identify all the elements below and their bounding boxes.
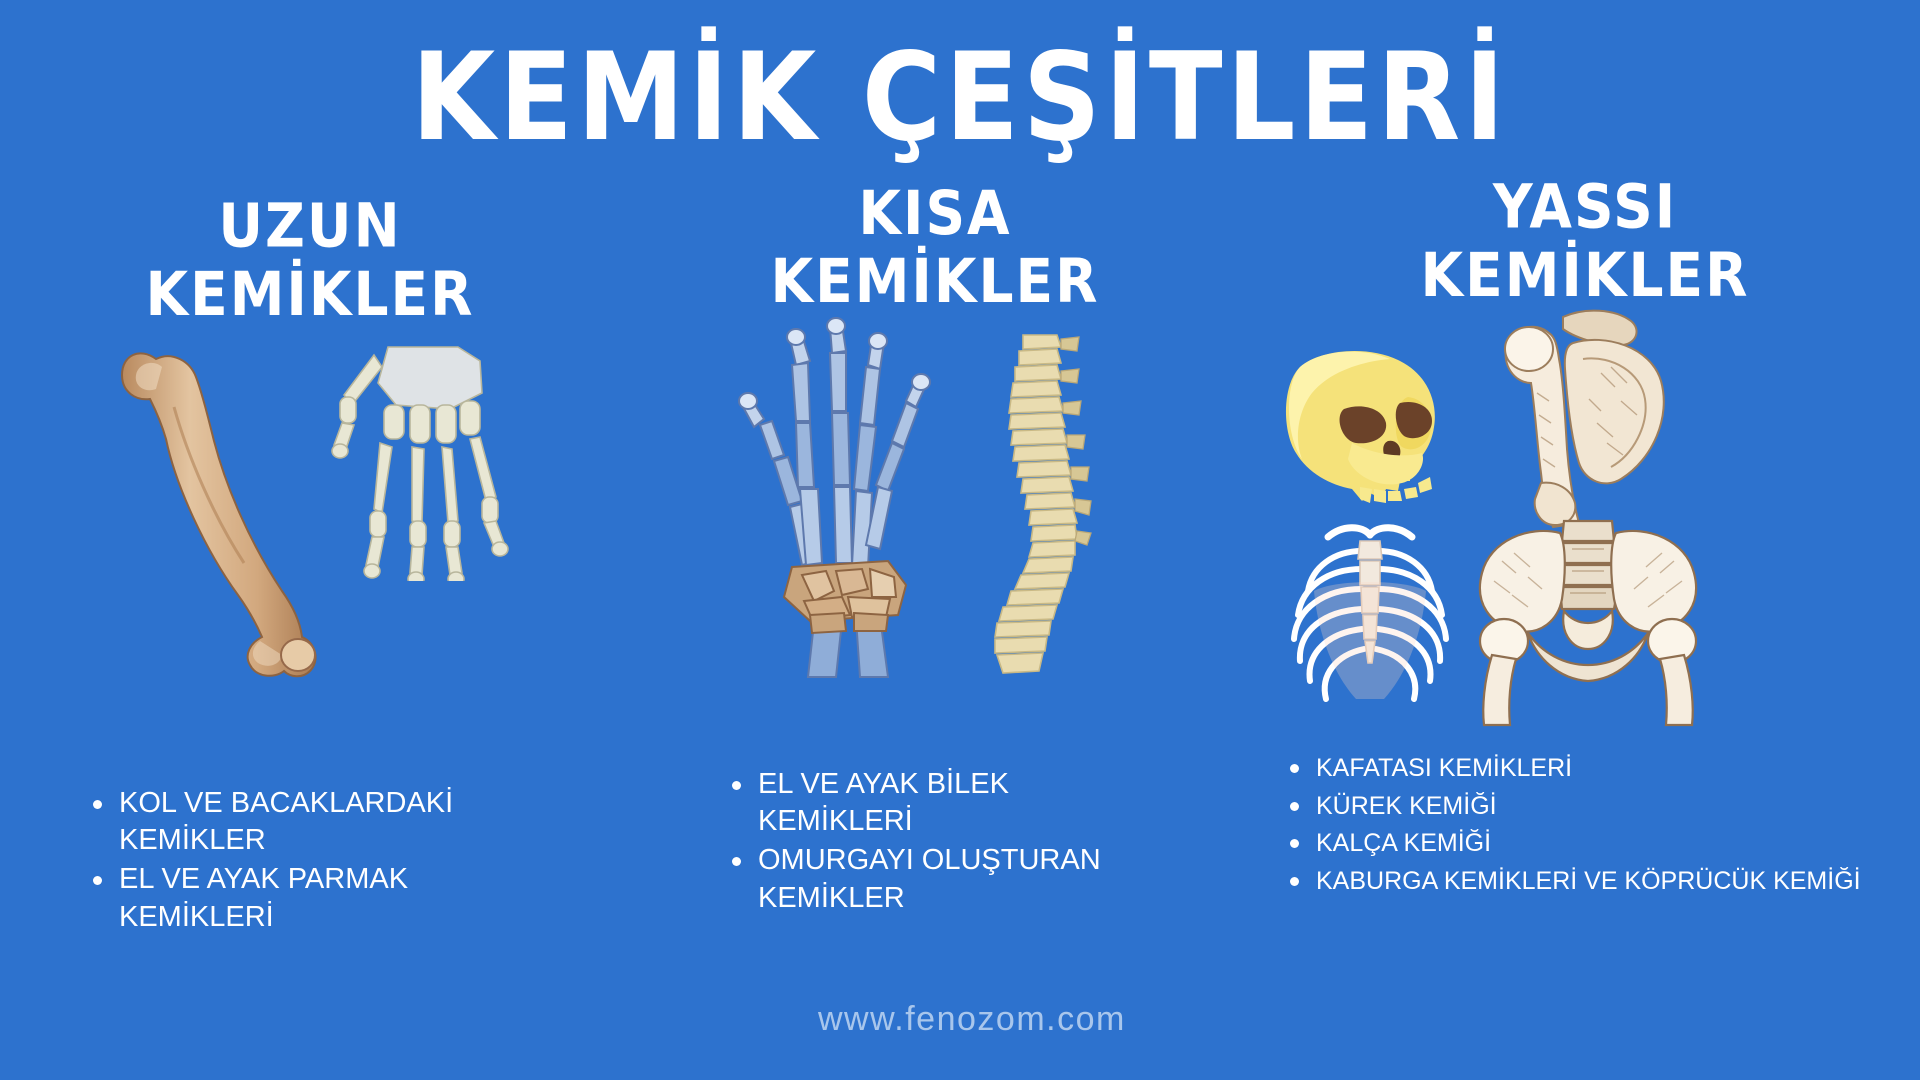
page-title: KEMİK ÇEŞİTLERİ	[0, 0, 1920, 159]
heading-line-2: KEMİKLER	[1421, 242, 1750, 310]
column-heading-long: UZUN KEMİKLER	[146, 173, 475, 328]
heading-line-1: YASSI	[1421, 174, 1750, 242]
short-bones-illustrations	[620, 309, 1250, 704]
column-long-bones: UZUN KEMİKLER	[0, 180, 620, 1010]
list-item: KAFATASI KEMİKLERİ	[1282, 751, 1902, 787]
list-item: KABURGA KEMİKLERİ VE KÖPRÜCÜK KEMİĞİ	[1282, 864, 1902, 900]
heading-line-1: UZUN	[146, 193, 475, 261]
flat-bones-illustrations	[1250, 303, 1920, 723]
scapula-shoulder-icon	[1445, 303, 1680, 533]
column-heading-flat: YASSI KEMİKLER	[1421, 174, 1750, 310]
rib-cage-icon	[1278, 515, 1463, 720]
site-watermark: www.fenozom.com	[818, 1000, 1126, 1039]
heading-line-2: KEMİKLER	[771, 248, 1100, 316]
foot-bones-icon	[330, 331, 550, 581]
femur-bone-icon	[110, 337, 340, 682]
column-heading-short: KISA KEMİKLER	[771, 174, 1100, 316]
flat-bones-bullet-list: KAFATASI KEMİKLERİ KÜREK KEMİĞİ KALÇA KE…	[1282, 751, 1902, 901]
list-item: EL VE AYAK BİLEK KEMİKLERİ	[724, 766, 1164, 840]
vertebral-column-icon	[965, 331, 1095, 676]
heading-line-1: KISA	[771, 180, 1100, 248]
list-item: OMURGAYI OLUŞTURAN KEMİKLER	[724, 842, 1164, 916]
skull-icon	[1260, 341, 1450, 516]
list-item: KÜREK KEMİĞİ	[1282, 789, 1902, 825]
list-item: EL VE AYAK PARMAK KEMİKLERİ	[85, 861, 555, 935]
heading-line-2: KEMİKLER	[146, 260, 475, 328]
long-bones-illustrations	[0, 321, 620, 701]
bone-type-columns: UZUN KEMİKLER	[0, 150, 1920, 1010]
pelvis-hip-icon	[1468, 515, 1708, 730]
column-short-bones: KISA KEMİKLER	[620, 180, 1250, 1010]
long-bones-bullet-list: KOL VE BACAKLARDAKİ KEMİKLER EL VE AYAK …	[85, 785, 555, 937]
list-item: KALÇA KEMİĞİ	[1282, 826, 1902, 862]
list-item: KOL VE BACAKLARDAKİ KEMİKLER	[85, 785, 555, 859]
column-flat-bones: YASSI KEMİKLER	[1250, 180, 1920, 1010]
hand-wrist-bones-icon	[710, 309, 970, 679]
short-bones-bullet-list: EL VE AYAK BİLEK KEMİKLERİ OMURGAYI OLUŞ…	[724, 766, 1164, 918]
